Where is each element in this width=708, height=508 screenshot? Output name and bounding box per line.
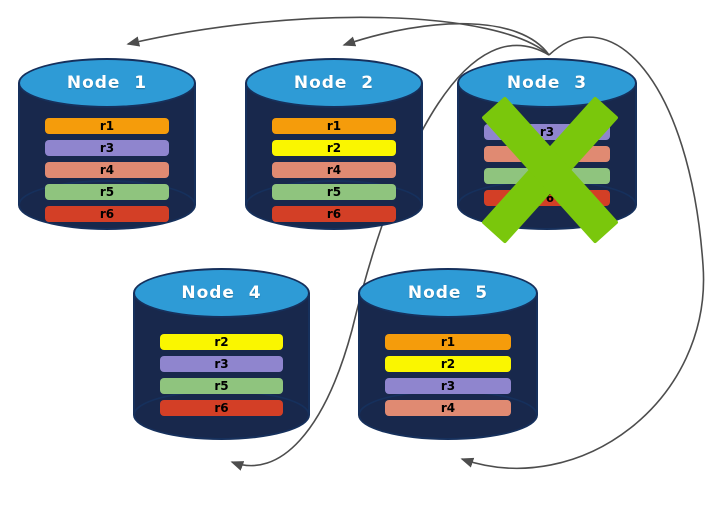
replica-list: r1r3r4r5r6: [18, 118, 196, 222]
node-4[interactable]: Node 4r2r3r5r6: [133, 268, 310, 440]
replica-r3[interactable]: r3: [160, 356, 283, 372]
node-label: Node 3: [457, 73, 637, 93]
replica-r6[interactable]: r6: [45, 206, 169, 222]
replica-r4[interactable]: r4: [272, 162, 396, 178]
node-label: Node 5: [358, 283, 538, 303]
replica-list: r1r2r4r5r6: [245, 118, 423, 222]
arrow-node3-to-node1: [128, 17, 549, 55]
replica-r5[interactable]: r5: [272, 184, 396, 200]
replica-r5[interactable]: r5: [45, 184, 169, 200]
replica-r1[interactable]: r1: [272, 118, 396, 134]
node-2[interactable]: Node 2r1r2r4r5r6: [245, 58, 423, 230]
node-failed-x-icon: [487, 105, 612, 235]
replica-list: r1r2r3r4: [358, 334, 538, 416]
replica-r6[interactable]: r6: [160, 400, 283, 416]
node-label: Node 4: [133, 283, 310, 303]
replica-r3[interactable]: r3: [45, 140, 169, 156]
replica-r4[interactable]: r4: [385, 400, 511, 416]
node-5[interactable]: Node 5r1r2r3r4: [358, 268, 538, 440]
node-1[interactable]: Node 1r1r3r4r5r6: [18, 58, 196, 230]
replica-r1[interactable]: r1: [45, 118, 169, 134]
diagram-canvas: Node 1r1r3r4r5r6Node 2r1r2r4r5r6Node 3r3…: [0, 0, 708, 508]
replica-r3[interactable]: r3: [385, 378, 511, 394]
replica-r6[interactable]: r6: [272, 206, 396, 222]
node-label: Node 2: [245, 73, 423, 93]
replica-list: r2r3r5r6: [133, 334, 310, 416]
arrow-node3-to-node2: [344, 24, 549, 55]
replica-r2[interactable]: r2: [272, 140, 396, 156]
replica-r2[interactable]: r2: [385, 356, 511, 372]
node-3[interactable]: Node 3r3r4r5r6: [457, 58, 637, 230]
replica-r5[interactable]: r5: [160, 378, 283, 394]
replica-r4[interactable]: r4: [45, 162, 169, 178]
replica-r1[interactable]: r1: [385, 334, 511, 350]
node-label: Node 1: [18, 73, 196, 93]
replica-r2[interactable]: r2: [160, 334, 283, 350]
